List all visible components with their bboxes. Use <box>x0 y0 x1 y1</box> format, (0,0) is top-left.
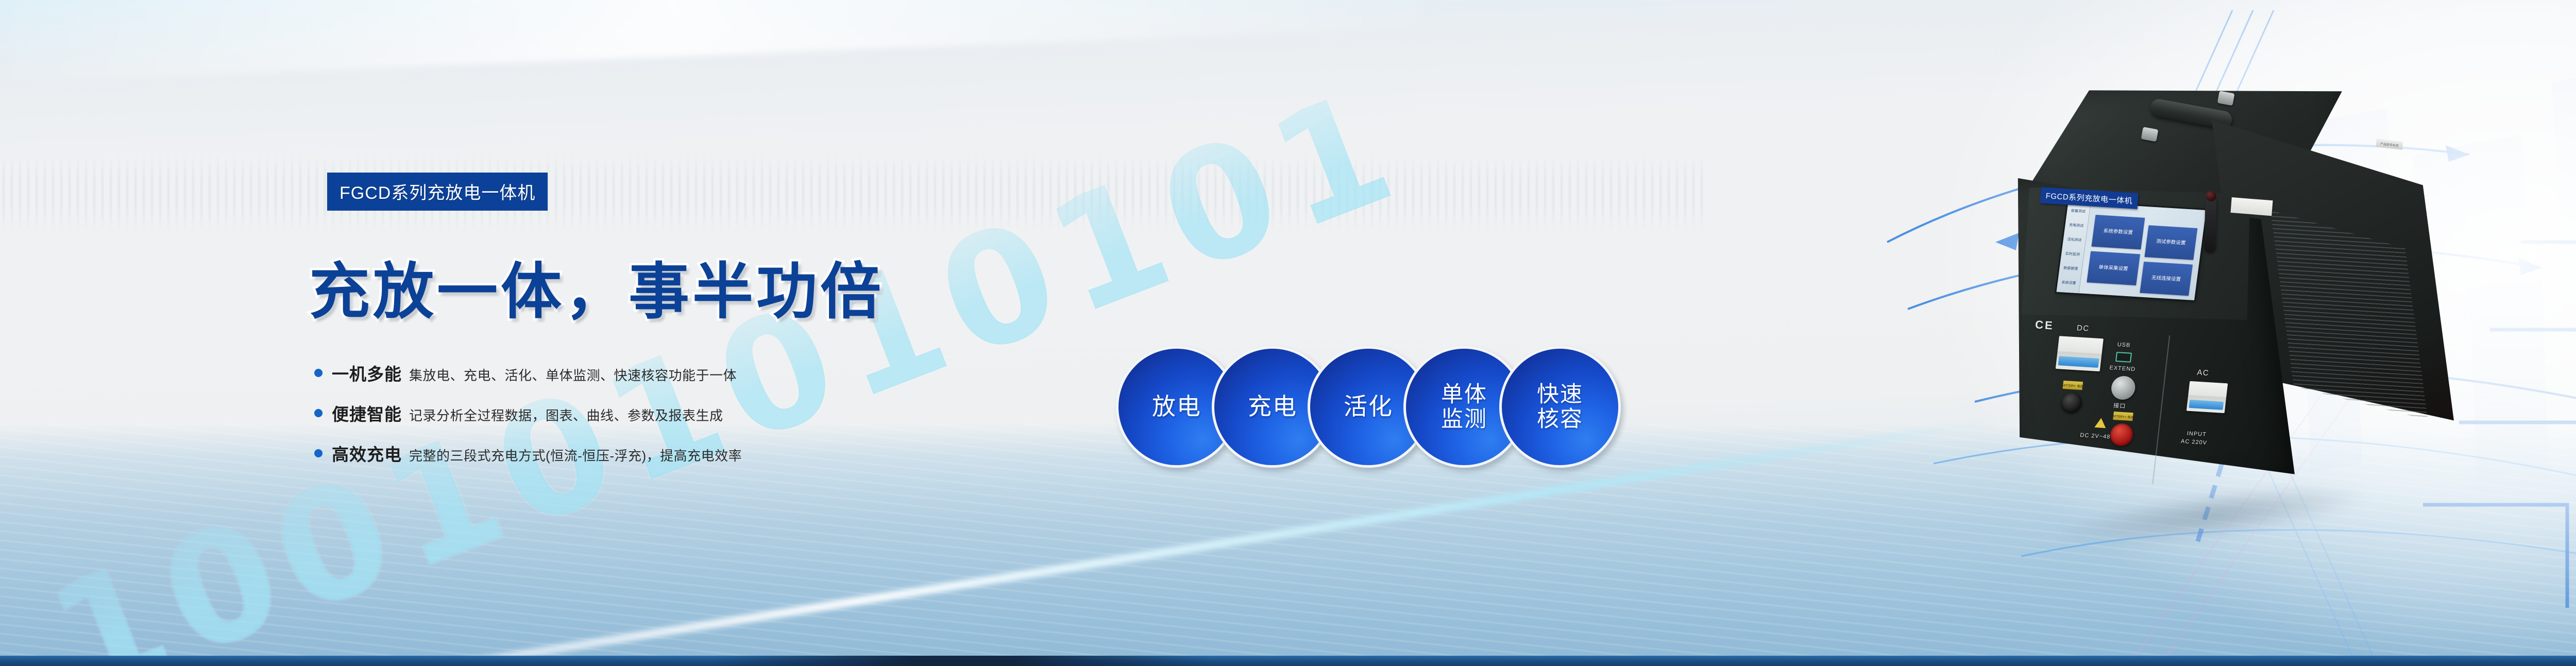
label-ac-voltage: AC 220V <box>2180 438 2207 446</box>
feature-circle-label: 快速核容 <box>1532 382 1588 432</box>
screen-tile-wireless-connection[interactable]: 无线连接设置 <box>2140 261 2193 296</box>
label-dc: DC <box>2076 323 2090 333</box>
machine-antenna <box>2204 196 2217 253</box>
feature-circle-label: 单体监测 <box>1436 382 1493 432</box>
screen-sidebar-item[interactable]: 系统设置 <box>2057 281 2080 286</box>
screen-sidebar-item[interactable]: 数据管理 <box>2059 266 2082 271</box>
feature-description: 完整的三段式充电方式(恒流-恒压-浮充)，提高充电效率 <box>409 446 742 465</box>
battery-positive-tag: BATTERY+ 电池+ <box>2113 412 2133 421</box>
machine-touchscreen[interactable]: 容量测试 充电测试 活化测试 实时监测 数据管理 系统设置 系统参数设置 测试参… <box>2057 202 2207 300</box>
screen-tile-test-params[interactable]: 测试参数设置 <box>2144 225 2197 260</box>
product-banner: 100101010101 <box>0 0 2576 666</box>
screen-tile-system-params[interactable]: 系统参数设置 <box>2092 215 2145 249</box>
panel-divider <box>2152 335 2170 484</box>
ac-circuit-breaker[interactable] <box>2187 381 2228 413</box>
bottom-accent-bar <box>0 656 2576 666</box>
screen-sidebar-item[interactable]: 活化测试 <box>2063 238 2086 243</box>
bullet-dot-icon <box>314 449 323 457</box>
series-badge: FGCD系列充放电一体机 <box>327 173 548 211</box>
feature-bullet-list: 一机多能 集放电、充电、活化、单体监测、快速核容功能于一体 便捷智能 记录分析全… <box>314 361 742 481</box>
fgcd-charge-discharge-machine: 产品型号标签 容量测试 充电测试 活化测试 实时监测 数据管理 系统设置 系统参… <box>1944 31 2513 618</box>
headline-slogan: 充放一体，事半功倍 <box>309 242 884 330</box>
feature-label: 一机多能 <box>332 361 402 385</box>
label-ac: AC <box>2196 368 2210 378</box>
dc-negative-terminal[interactable] <box>2060 392 2082 414</box>
warning-triangle-icon <box>2094 418 2107 428</box>
extend-connector[interactable] <box>2110 375 2137 401</box>
usb-port[interactable] <box>2115 352 2132 363</box>
screen-tile-cell-acquisition[interactable]: 单体采集设置 <box>2087 251 2140 285</box>
handle-mount-left <box>2141 127 2159 142</box>
feature-bullet: 高效充电 完整的三段式充电方式(恒流-恒压-浮充)，提高充电效率 <box>314 441 742 466</box>
label-ac-input: INPUT <box>2187 431 2207 438</box>
screen-tile-grid: 系统参数设置 测试参数设置 单体采集设置 无线连接设置 <box>2079 203 2206 300</box>
label-usb: USB <box>2117 341 2131 349</box>
label-extend-port: 接口 <box>2113 401 2126 410</box>
screen-sidebar-item[interactable]: 充电测试 <box>2065 224 2088 229</box>
screen-sidebar-item[interactable]: 实时监测 <box>2061 252 2084 257</box>
feature-label: 高效充电 <box>332 441 402 466</box>
feature-bullet: 便捷智能 记录分析全过程数据，图表、曲线、参数及报表生成 <box>314 401 742 425</box>
bottom-accent-bar-shade <box>715 656 1209 666</box>
product-image: 产品型号标签 容量测试 充电测试 活化测试 实时监测 数据管理 系统设置 系统参… <box>1976 62 2481 587</box>
feature-circle-label: 活化 <box>1338 394 1398 420</box>
dc-circuit-breaker[interactable] <box>2056 336 2104 371</box>
machine-connector-panel: DC BATTERY- 电池- DC 2V~48V USB EXTEND 接口 … <box>2022 318 2289 503</box>
machine-rating-sticker: 产品型号标签 <box>2376 139 2403 150</box>
battery-negative-tag: BATTERY- 电池- <box>2062 381 2083 390</box>
banner-content: FGCD系列充放电一体机 充放一体，事半功倍 一机多能 集放电、充电、活化、单体… <box>0 0 1133 666</box>
feature-circle-rapid-capacity[interactable]: 快速核容 <box>1499 346 1621 468</box>
bullet-dot-icon <box>314 409 323 417</box>
dc-positive-terminal[interactable] <box>2109 423 2134 447</box>
handle-mount-right <box>2217 91 2235 106</box>
feature-description: 记录分析全过程数据，图表、曲线、参数及报表生成 <box>409 405 723 424</box>
machine-serial-sticker <box>2230 197 2273 216</box>
feature-label: 便捷智能 <box>332 401 402 425</box>
feature-bullet: 一机多能 集放电、充电、活化、单体监测、快速核容功能于一体 <box>314 361 742 385</box>
screen-sidebar-item[interactable]: 容量测试 <box>2067 209 2090 214</box>
label-extend: EXTEND <box>2109 365 2136 372</box>
bullet-dot-icon <box>314 369 323 377</box>
feature-circle-label: 放电 <box>1147 394 1207 420</box>
feature-circle-label: 充电 <box>1243 394 1302 420</box>
feature-description: 集放电、充电、活化、单体监测、快速核容功能于一体 <box>409 365 737 384</box>
